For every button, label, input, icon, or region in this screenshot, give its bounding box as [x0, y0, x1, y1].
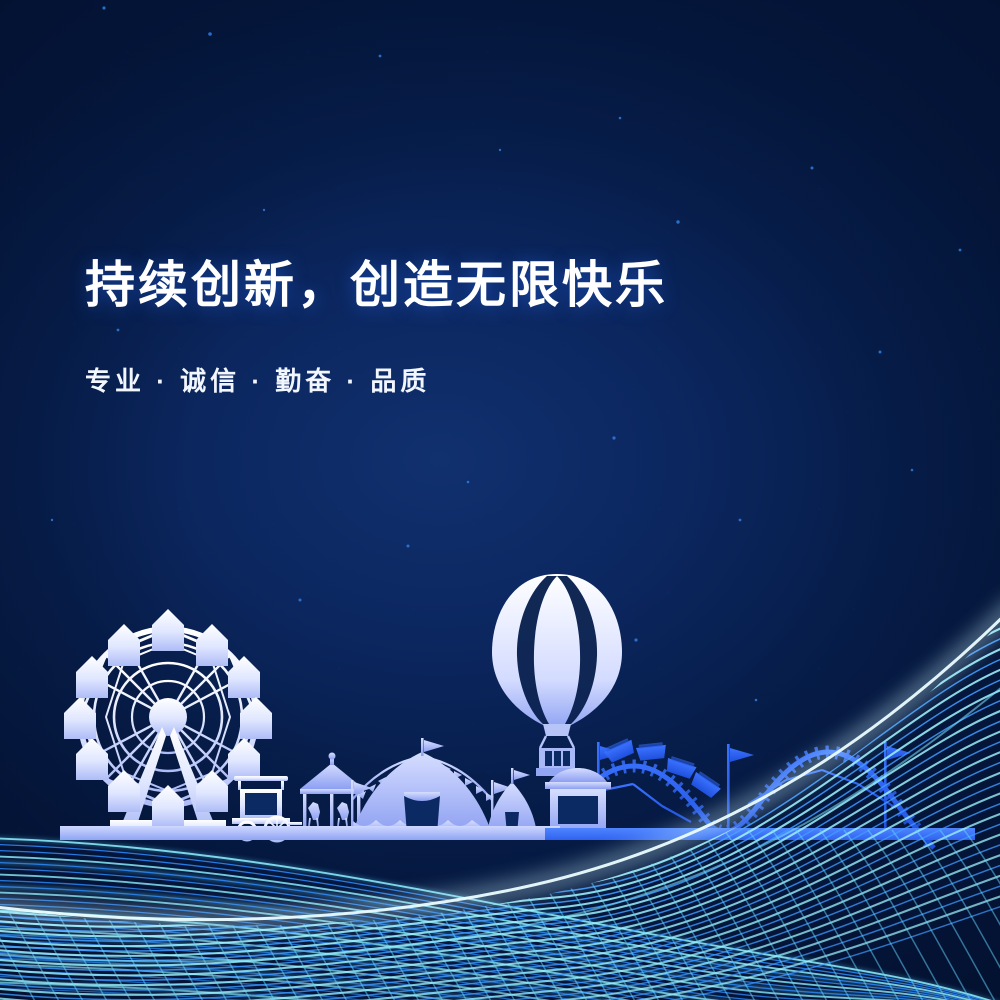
hero-copy: 持续创新，创造无限快乐 专业 · 诚信 · 勤奋 · 品质 — [85, 258, 668, 398]
page-title: 持续创新，创造无限快乐 — [85, 258, 668, 313]
particle-dot — [619, 117, 622, 120]
carousel-horse — [308, 802, 320, 826]
particle-dot — [739, 519, 742, 522]
ticket-booth — [545, 768, 611, 834]
particle-dot — [102, 6, 105, 9]
particle-dot — [959, 249, 962, 252]
particle-dot — [407, 545, 410, 548]
coaster-flag — [727, 744, 754, 834]
carousel-horse — [337, 802, 349, 826]
particle-dot — [467, 481, 470, 484]
circus-big-top — [351, 738, 512, 834]
particle-dot — [911, 469, 914, 472]
ground-line-left — [60, 826, 560, 840]
particle-dot — [379, 55, 382, 58]
particle-dot — [263, 209, 265, 211]
hot-air-balloon — [492, 574, 622, 776]
scene-artwork — [0, 0, 1000, 1000]
particle-dot — [634, 638, 637, 641]
particle-dot — [51, 519, 53, 521]
particle-dot — [755, 699, 758, 702]
particle-dot — [811, 167, 814, 170]
particle-dot — [612, 436, 615, 439]
particle-dot — [299, 599, 302, 602]
particle-dot — [676, 220, 679, 223]
hero-banner: 持续创新，创造无限快乐 专业 · 诚信 · 勤奋 · 品质 — [0, 0, 1000, 1000]
page-tagline: 专业 · 诚信 · 勤奋 · 品质 — [85, 313, 668, 398]
particle-dot — [208, 32, 212, 36]
small-tent — [487, 768, 537, 834]
particle-dot — [879, 351, 882, 354]
particle-dot — [499, 149, 501, 151]
